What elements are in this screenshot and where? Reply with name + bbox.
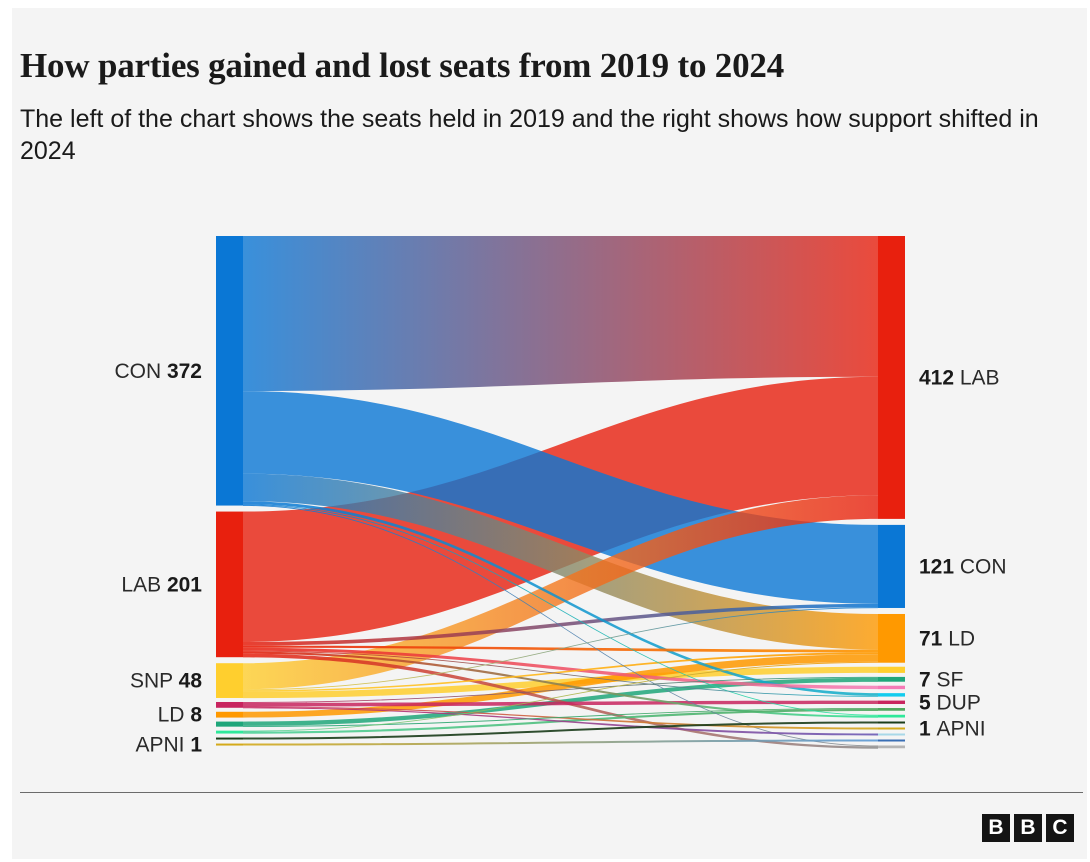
bbc-logo-letter-1: B	[982, 814, 1010, 842]
sankey-flow	[243, 236, 878, 391]
bbc-logo-letter-3: C	[1046, 814, 1074, 842]
sankey-node-left-spk[interactable]	[216, 738, 243, 740]
sankey-node-right-con[interactable]	[878, 525, 905, 608]
chart-page: How parties gained and lost seats from 2…	[0, 0, 1090, 862]
left-label-snp: SNP 48	[130, 670, 202, 693]
sankey-node-right-ind[interactable]	[878, 746, 905, 749]
bbc-logo: B B C	[982, 814, 1074, 842]
sankey-node-left-lab[interactable]	[216, 512, 243, 658]
right-label-dup: 5 DUP	[919, 691, 981, 714]
left-nodes	[216, 236, 243, 746]
sankey-node-left-con[interactable]	[216, 236, 243, 506]
left-label-con: CON 372	[114, 360, 202, 383]
sankey-node-left-ld[interactable]	[216, 712, 243, 718]
sankey-node-right-sf[interactable]	[878, 677, 905, 682]
left-label-apni: APNI 1	[135, 734, 202, 757]
right-label-apni: 1 APNI	[919, 718, 986, 741]
left-label-ld: LD 8	[158, 704, 203, 727]
bbc-logo-letter-2: B	[1014, 814, 1042, 842]
sankey-node-left-apni[interactable]	[216, 744, 243, 746]
right-label-con: 121 CON	[919, 555, 1007, 578]
flow-ribbons	[243, 236, 878, 749]
sankey-node-right-grn[interactable]	[878, 715, 905, 718]
sankey-node-right-awp[interactable]	[878, 686, 905, 689]
sankey-node-right-apni[interactable]	[878, 728, 905, 730]
sankey-node-right-tuv[interactable]	[878, 734, 905, 736]
sankey-node-left-snp[interactable]	[216, 663, 243, 698]
sankey-node-right-spk[interactable]	[878, 722, 905, 724]
right-label-ld: 71 LD	[919, 627, 975, 650]
left-label-lab: LAB 201	[121, 573, 202, 596]
right-label-sf: 7 SF	[919, 668, 963, 691]
right-nodes	[878, 236, 905, 748]
sankey-node-left-sf[interactable]	[216, 722, 243, 727]
sankey-node-left-pc[interactable]	[216, 731, 243, 734]
sankey-svg: CON 372LAB 201SNP 48LD 8APNI 1412 LAB121…	[12, 203, 1087, 763]
sankey-flow	[243, 722, 878, 740]
page-title: How parties gained and lost seats from 2…	[20, 46, 1080, 86]
sankey-node-right-lab[interactable]	[878, 236, 905, 519]
sankey-node-right-dup[interactable]	[878, 701, 905, 704]
sankey-node-right-ld[interactable]	[878, 614, 905, 663]
sankey-node-left-dup[interactable]	[216, 702, 243, 708]
page-subtitle: The left of the chart shows the seats he…	[20, 103, 1085, 167]
sankey-node-right-snp[interactable]	[878, 667, 905, 673]
sankey-node-right-uup[interactable]	[878, 740, 905, 742]
sankey-node-right-rfm[interactable]	[878, 693, 905, 696]
footer-divider	[20, 792, 1083, 793]
right-label-lab: 412 LAB	[919, 366, 1000, 389]
sankey-chart: CON 372LAB 201SNP 48LD 8APNI 1412 LAB121…	[12, 203, 1087, 763]
sankey-node-right-sdlp[interactable]	[878, 708, 905, 711]
